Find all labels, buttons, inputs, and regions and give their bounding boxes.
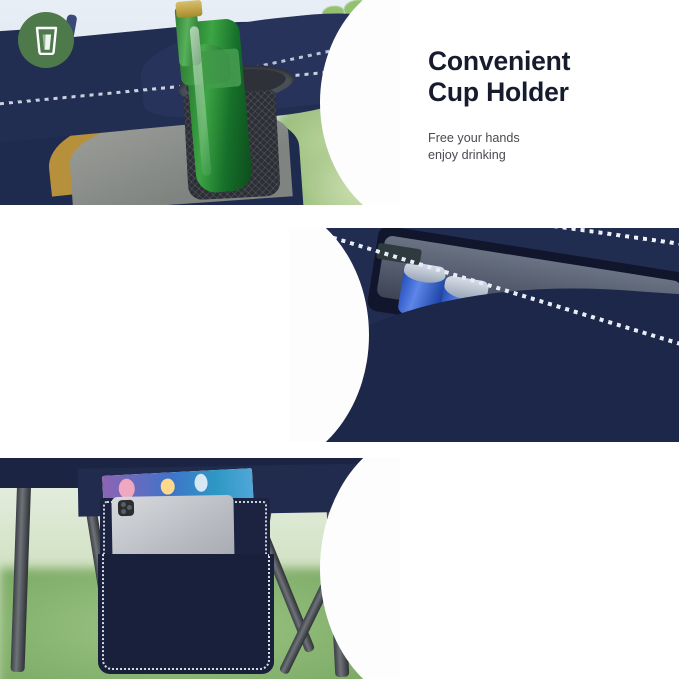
- feature-text-cup-holder: Convenient Cup Holder Free your hands en…: [428, 46, 570, 163]
- feature-body: Free your hands enjoy drinking: [428, 130, 570, 163]
- feature-heading: Convenient Cup Holder: [428, 46, 570, 108]
- feature-panel-cooler-bag: Personalized Cooler Bag Make your summer…: [0, 458, 679, 679]
- body-line-2: enjoy drinking: [428, 148, 506, 162]
- product-feature-infographic: Convenient Cup Holder Free your hands en…: [0, 0, 679, 679]
- tablet-camera-module: [118, 500, 134, 516]
- feature-panel-cup-holder: Convenient Cup Holder Free your hands en…: [0, 0, 679, 205]
- feature-image-cooler-bag: [0, 458, 400, 679]
- heading-line-2: Cup Holder: [428, 77, 569, 107]
- heading-line-1: Convenient: [428, 46, 570, 76]
- badge-cup-holder: [18, 12, 74, 68]
- feature-panel-side-pocket: Three-Dimensional Oxford Side Pocket Pla…: [0, 228, 679, 442]
- pocket-front-flap: [98, 554, 274, 674]
- feature-image-side-pocket: [289, 228, 679, 442]
- cup-icon: [33, 25, 60, 55]
- body-line-1: Free your hands: [428, 131, 520, 145]
- bottle-cap: [175, 0, 202, 18]
- camera-lens: [121, 502, 126, 507]
- camera-lens: [127, 505, 132, 510]
- camera-lens: [121, 509, 126, 514]
